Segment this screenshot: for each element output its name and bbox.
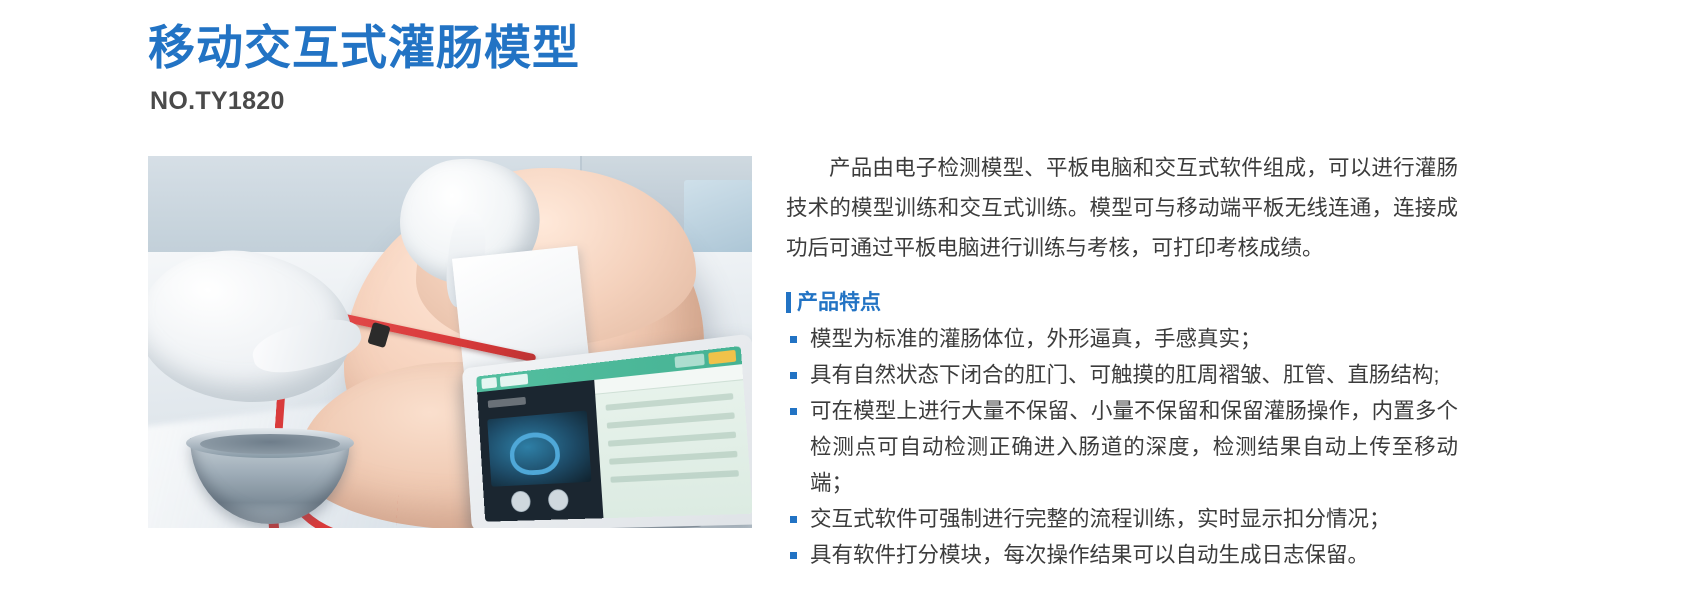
- feature-text: 交互式软件可强制进行完整的流程训练，实时显示扣分情况；: [810, 507, 1391, 531]
- list-item: 具有软件打分模块，每次操作结果可以自动生成日志保留。: [786, 537, 1458, 573]
- list-item: 交互式软件可强制进行完整的流程训练，实时显示扣分情况；: [786, 501, 1458, 537]
- tablet-panel-label: [488, 397, 526, 408]
- feature-text: 可在模型上进行大量不保留、小量不保留和保留灌肠操作，内置多个检测点可自动检测正确…: [810, 399, 1458, 495]
- tablet-score-row: [610, 470, 739, 483]
- list-item: 可在模型上进行大量不保留、小量不保留和保留灌肠操作，内置多个检测点可自动检测正确…: [786, 393, 1458, 501]
- feature-text: 模型为标准的灌肠体位，外形逼真，手感真实；: [810, 327, 1262, 351]
- tablet-score-row: [605, 393, 733, 411]
- tablet-video-panel: [477, 380, 603, 522]
- features-heading-label: 产品特点: [797, 292, 881, 313]
- square-bullet-icon: [790, 516, 797, 523]
- tablet-topbar-chip: [674, 353, 704, 368]
- tablet-score-panel: [594, 364, 752, 518]
- tablet-topbar-chip: [500, 374, 528, 387]
- product-photo: [148, 156, 752, 528]
- tablet-score-row: [608, 431, 736, 446]
- photo-steel-bowl-inner: [200, 434, 340, 454]
- page-title: 移动交互式灌肠模型: [148, 22, 948, 75]
- square-bullet-icon: [790, 336, 797, 343]
- square-bullet-icon: [790, 372, 797, 379]
- square-bullet-icon: [790, 408, 797, 415]
- tablet-control-button: [511, 491, 532, 513]
- square-bullet-icon: [790, 552, 797, 559]
- product-model-number: NO.TY1820: [150, 87, 948, 116]
- photo-tablet-screen: [476, 346, 752, 522]
- product-description: 产品由电子检测模型、平板电脑和交互式软件组成，可以进行灌肠技术的模型训练和交互式…: [786, 148, 1458, 268]
- tablet-score-row: [607, 412, 735, 428]
- tablet-topbar-chip: [481, 377, 497, 389]
- feature-text: 具有自然状态下闭合的肛门、可触摸的肛周褶皱、肛管、直肠结构;: [810, 363, 1439, 387]
- list-item: 具有自然状态下闭合的肛门、可触摸的肛周褶皱、肛管、直肠结构;: [786, 357, 1458, 393]
- accent-bar-icon: [786, 292, 791, 313]
- features-list: 模型为标准的灌肠体位，外形逼真，手感真实； 具有自然状态下闭合的肛门、可触摸的肛…: [786, 321, 1458, 573]
- tablet-topbar-chip: [708, 350, 736, 365]
- features-heading: 产品特点: [786, 292, 1458, 313]
- tablet-control-button: [548, 489, 569, 511]
- feature-text: 具有软件打分模块，每次操作结果可以自动生成日志保留。: [810, 543, 1369, 567]
- product-header: 移动交互式灌肠模型 NO.TY1820: [148, 22, 948, 116]
- product-info-column: 产品由电子检测模型、平板电脑和交互式软件组成，可以进行灌肠技术的模型训练和交互式…: [786, 148, 1458, 573]
- tablet-score-row: [609, 451, 737, 465]
- list-item: 模型为标准的灌肠体位，外形逼真，手感真实；: [786, 321, 1458, 357]
